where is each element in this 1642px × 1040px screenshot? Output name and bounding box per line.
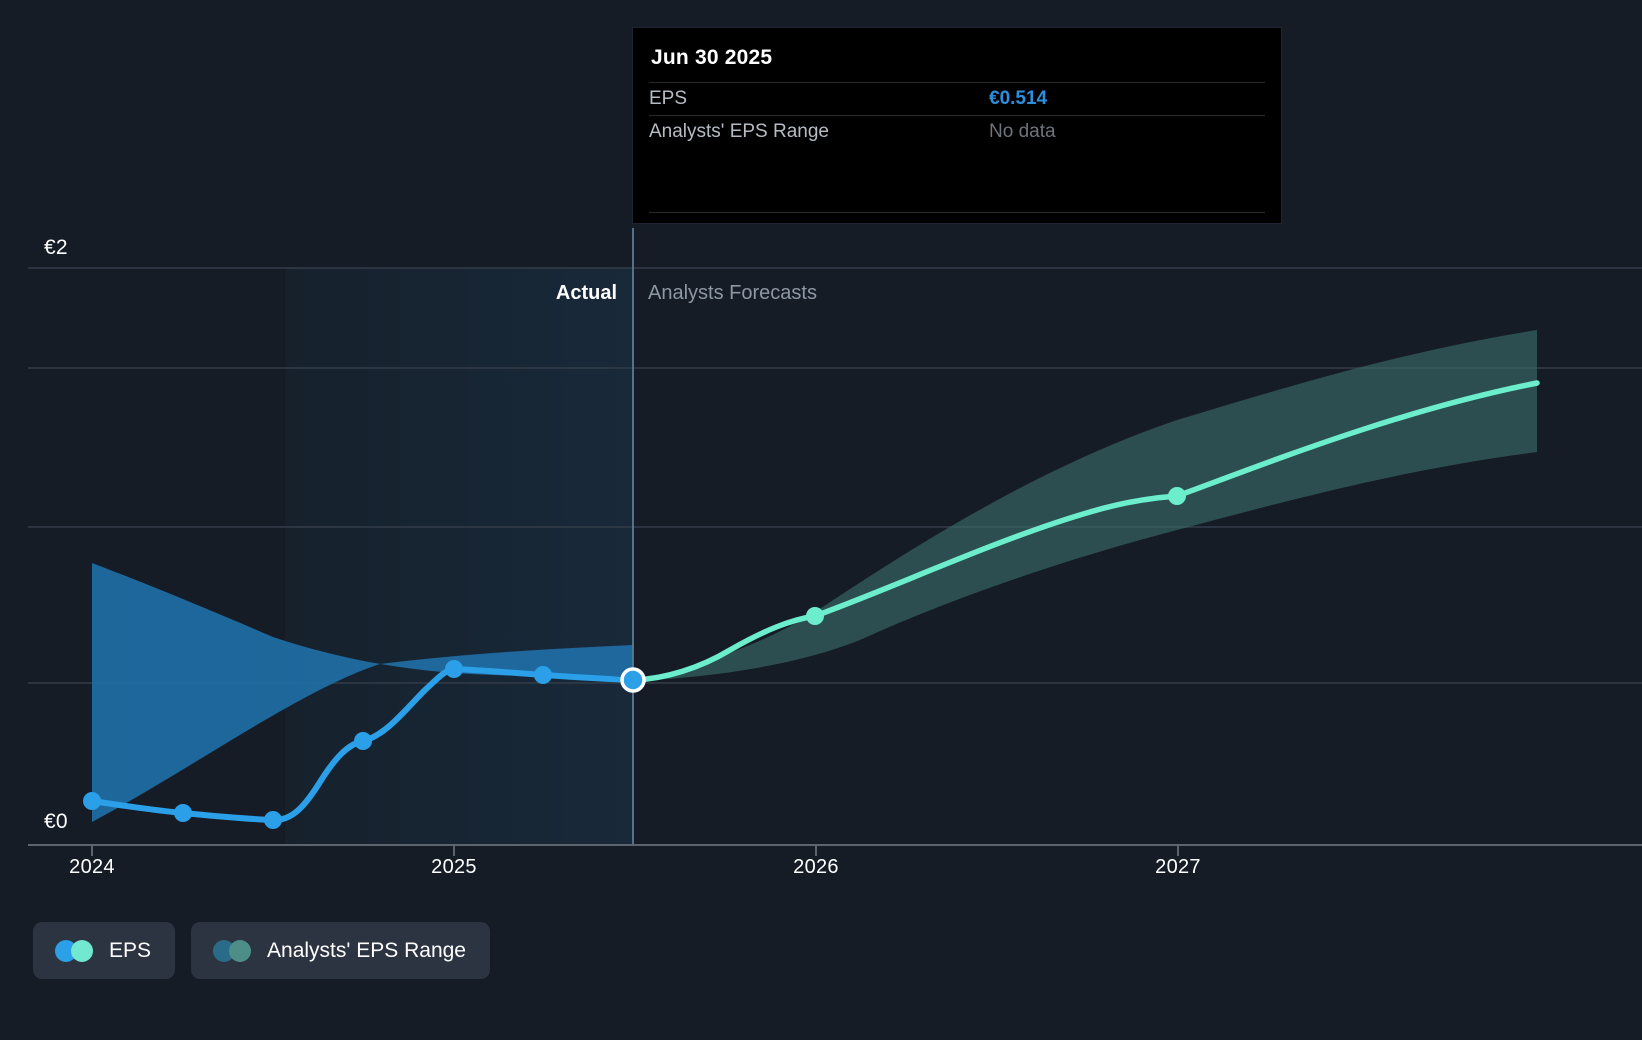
tooltip-row-value: €0.514 <box>989 88 1047 110</box>
x-axis-label-2026: 2026 <box>793 856 839 879</box>
legend-item-eps[interactable]: EPS <box>33 922 175 979</box>
actual-period-label: Actual <box>556 282 617 305</box>
tooltip-spacer <box>649 148 1265 212</box>
x-axis-label-2024: 2024 <box>69 856 115 879</box>
tooltip-row-range: Analysts' EPS Range No data <box>649 115 1265 148</box>
legend-item-analysts-eps-range[interactable]: Analysts' EPS Range <box>191 922 490 979</box>
legend-item-label: EPS <box>109 939 151 963</box>
data-point[interactable] <box>264 811 282 829</box>
data-point[interactable] <box>174 804 192 822</box>
data-point[interactable] <box>1168 487 1186 505</box>
data-point[interactable] <box>445 660 463 678</box>
data-point[interactable] <box>354 732 372 750</box>
x-axis-label-2025: 2025 <box>431 856 477 879</box>
legend-item-label: Analysts' EPS Range <box>267 939 466 963</box>
tooltip-title: Jun 30 2025 <box>649 28 1265 82</box>
eps-chart-widget: €2 €0 2024 2025 2026 2027 Actual Analyst… <box>0 0 1642 1040</box>
x-axis-ticks <box>92 845 1178 856</box>
tooltip-row-value: No data <box>989 121 1056 143</box>
x-axis-label-2027: 2027 <box>1155 856 1201 879</box>
forecast-period-label: Analysts Forecasts <box>648 282 817 305</box>
chart-tooltip: Jun 30 2025 EPS €0.514 Analysts' EPS Ran… <box>632 27 1282 224</box>
data-point[interactable] <box>534 666 552 684</box>
tooltip-row-label: EPS <box>649 88 989 110</box>
tooltip-row-label: Analysts' EPS Range <box>649 121 989 143</box>
chart-legend: EPS Analysts' EPS Range <box>33 922 490 979</box>
eps-swatch-icon <box>55 940 93 962</box>
analysts-range-swatch-icon <box>213 940 251 962</box>
y-axis-label-top: €2 <box>44 236 68 260</box>
y-axis-label-zero: €0 <box>44 810 68 834</box>
tooltip-row-eps: EPS €0.514 <box>649 82 1265 115</box>
highlighted-data-point[interactable] <box>622 669 644 691</box>
data-point[interactable] <box>83 792 101 810</box>
tooltip-footer-divider <box>649 212 1265 213</box>
data-point[interactable] <box>806 607 824 625</box>
